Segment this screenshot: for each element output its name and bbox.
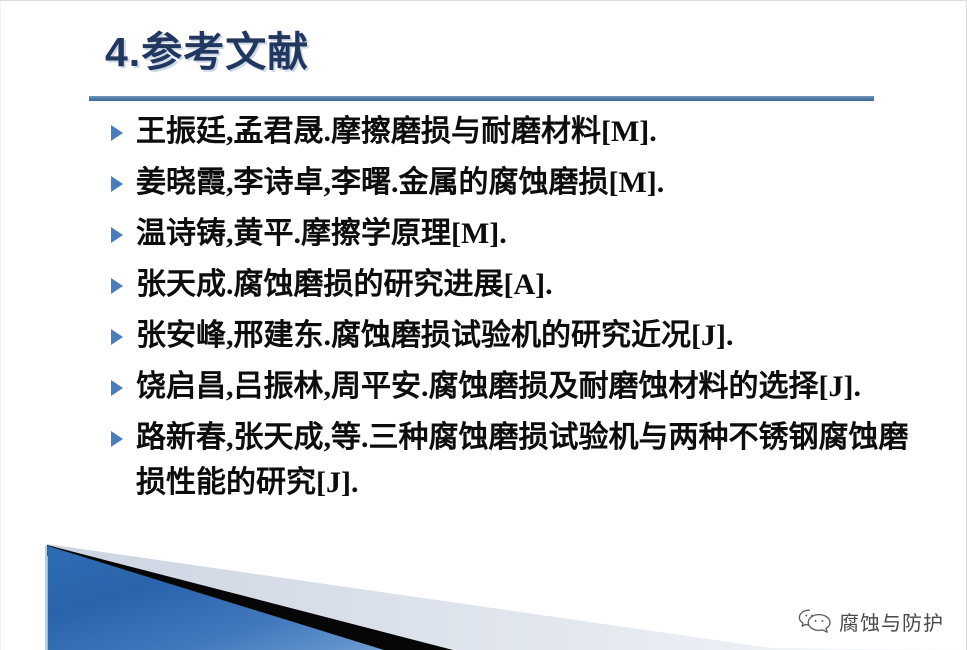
- reference-text: 张天成.腐蚀磨损的研究进展[A].: [136, 262, 915, 307]
- list-item: 张天成.腐蚀磨损的研究进展[A].: [105, 262, 915, 307]
- presentation-slide: 4.参考文献 王振廷,孟君晟.摩擦磨损与耐磨材料[M]. 姜晓霞,李诗卓,李曙.…: [0, 0, 967, 650]
- page-title: 4.参考文献: [105, 27, 309, 78]
- wedge-blue-triangle: [48, 546, 384, 650]
- reference-text: 王振廷,孟君晟.摩擦磨损与耐磨材料[M].: [136, 109, 915, 154]
- list-item: 姜晓霞,李诗卓,李曙.金属的腐蚀磨损[M].: [105, 160, 915, 205]
- reference-text: 温诗铸,黄平.摩擦学原理[M].: [136, 211, 915, 256]
- reference-list: 王振廷,孟君晟.摩擦磨损与耐磨材料[M]. 姜晓霞,李诗卓,李曙.金属的腐蚀磨损…: [105, 109, 915, 511]
- triangle-bullet-icon: [111, 380, 123, 396]
- footer-account-logo: 腐蚀与防护: [798, 607, 944, 636]
- triangle-bullet-icon: [111, 431, 123, 447]
- wedge-black-band: [47, 545, 453, 650]
- wechat-icon-svg: [798, 608, 832, 635]
- triangle-bullet-icon: [111, 329, 123, 345]
- wedge-edge-highlight: [45, 546, 48, 650]
- list-item: 张安峰,邢建东.腐蚀磨损试验机的研究近况[J].: [105, 313, 915, 358]
- reference-text: 张安峰,邢建东.腐蚀磨损试验机的研究近况[J].: [136, 313, 915, 358]
- reference-text: 路新春,张天成,等.三种腐蚀磨损试验机与两种不锈钢腐蚀磨损性能的研究[J].: [136, 415, 915, 505]
- reference-text: 姜晓霞,李诗卓,李曙.金属的腐蚀磨损[M].: [136, 160, 915, 205]
- triangle-bullet-icon: [111, 227, 123, 243]
- list-item: 饶启昌,吕振林,周平安.腐蚀磨损及耐磨蚀材料的选择[J].: [105, 364, 915, 409]
- triangle-bullet-icon: [111, 176, 123, 192]
- triangle-bullet-icon: [111, 125, 123, 141]
- triangle-bullet-icon: [111, 278, 123, 294]
- list-item: 温诗铸,黄平.摩擦学原理[M].: [105, 211, 915, 256]
- list-item: 王振廷,孟君晟.摩擦磨损与耐磨材料[M].: [105, 109, 915, 154]
- wechat-icon: [798, 608, 832, 635]
- footer-account-name: 腐蚀与防护: [839, 607, 944, 636]
- title-underline-rule: [89, 96, 874, 101]
- list-item: 路新春,张天成,等.三种腐蚀磨损试验机与两种不锈钢腐蚀磨损性能的研究[J].: [105, 415, 915, 505]
- reference-text: 饶启昌,吕振林,周平安.腐蚀磨损及耐磨蚀材料的选择[J].: [136, 364, 915, 409]
